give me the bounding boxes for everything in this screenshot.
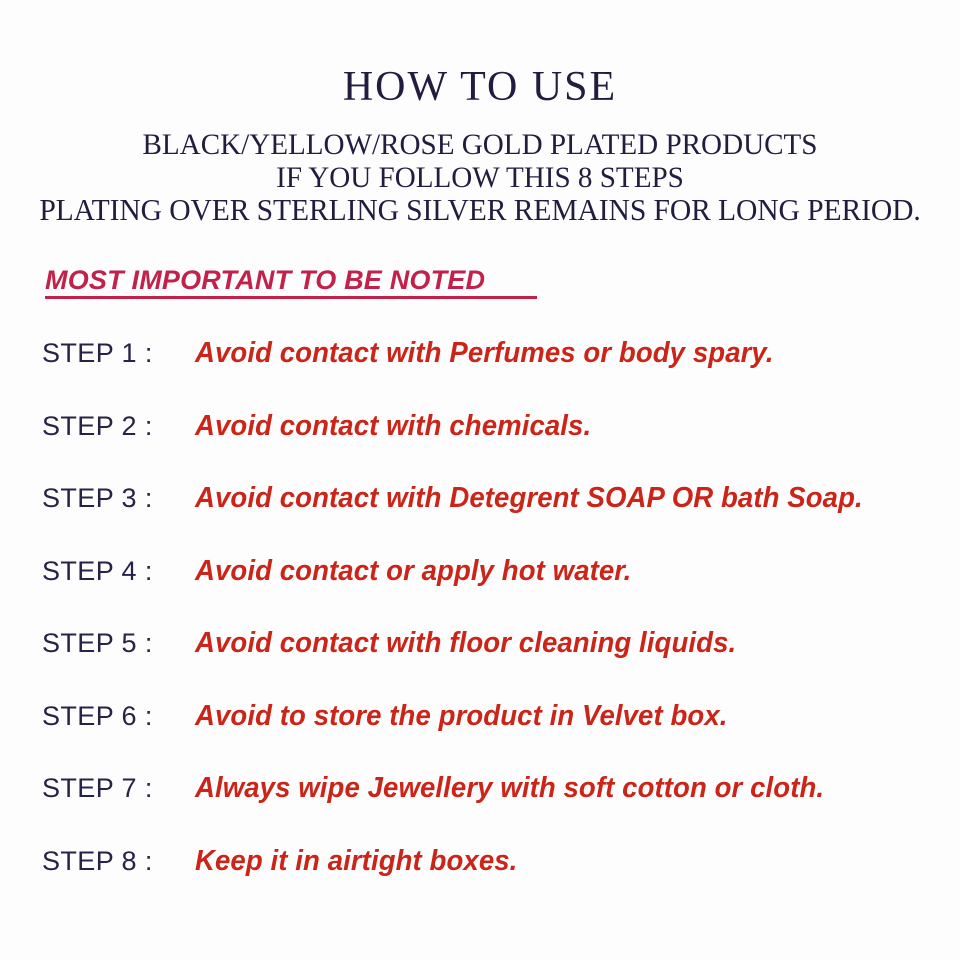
steps-list: STEP 1 : Avoid contact with Perfumes or … [0,337,960,917]
step-label: STEP 7 : [42,772,153,804]
step-text: Keep it in airtight boxes. [195,844,517,878]
step-text: Avoid contact with floor cleaning liquid… [195,626,736,660]
step-label: STEP 8 : [42,845,153,877]
step-label: STEP 4 : [42,555,153,587]
step-text: Avoid to store the product in Velvet box… [195,699,728,733]
page-title: HOW TO USE [0,62,960,112]
step-text: Avoid contact with Perfumes or body spar… [195,336,774,370]
step-text: Avoid contact with chemicals. [195,409,591,443]
notice-heading-underline [45,296,537,299]
subtitle-line-2: IF YOU FOLLOW THIS 8 STEPS [14,161,945,194]
step-label: STEP 3 : [42,482,153,514]
step-row: STEP 1 : Avoid contact with Perfumes or … [0,337,960,410]
step-row: STEP 3 : Avoid contact with Detegrent SO… [0,482,960,555]
step-label: STEP 2 : [42,410,153,442]
step-row: STEP 6 : Avoid to store the product in V… [0,700,960,773]
step-row: STEP 8 : Keep it in airtight boxes. [0,845,960,918]
step-row: STEP 7 : Always wipe Jewellery with soft… [0,772,960,845]
how-to-use-poster: HOW TO USE BLACK/YELLOW/ROSE GOLD PLATED… [0,0,960,960]
header-block: HOW TO USE BLACK/YELLOW/ROSE GOLD PLATED… [0,62,960,227]
step-label: STEP 5 : [42,627,153,659]
step-text: Avoid contact or apply hot water. [195,554,631,588]
subtitle-line-3: PLATING OVER STERLING SILVER REMAINS FOR… [14,194,945,227]
step-label: STEP 1 : [42,337,153,369]
step-row: STEP 2 : Avoid contact with chemicals. [0,410,960,483]
step-row: STEP 4 : Avoid contact or apply hot wate… [0,555,960,628]
step-text: Avoid contact with Detegrent SOAP OR bat… [195,481,863,515]
subtitle-line-1: BLACK/YELLOW/ROSE GOLD PLATED PRODUCTS [14,128,945,161]
step-text: Always wipe Jewellery with soft cotton o… [195,771,824,805]
subtitle-block: BLACK/YELLOW/ROSE GOLD PLATED PRODUCTS I… [0,128,960,227]
step-label: STEP 6 : [42,700,153,732]
most-important-heading: MOST IMPORTANT TO BE NOTED [45,265,485,296]
step-row: STEP 5 : Avoid contact with floor cleani… [0,627,960,700]
